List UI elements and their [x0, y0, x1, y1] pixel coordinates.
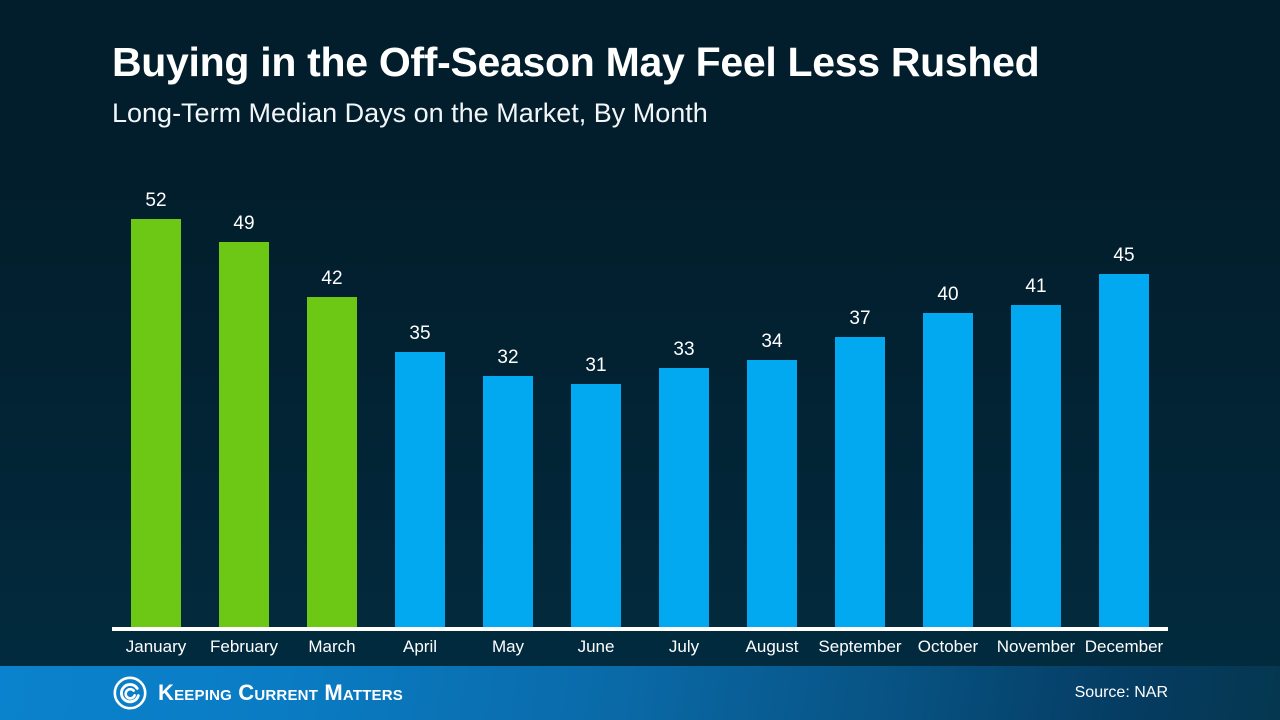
x-axis-line — [112, 627, 1168, 631]
x-axis-label: January — [112, 637, 200, 657]
spiral-circle-logo-icon — [113, 676, 147, 710]
x-axis-label: June — [552, 637, 640, 657]
x-axis-label: August — [728, 637, 816, 657]
x-axis-label: May — [464, 637, 552, 657]
bar-value-label: 33 — [673, 340, 694, 359]
bar — [923, 313, 973, 627]
bar-group: 35 — [376, 150, 464, 627]
bar — [747, 360, 797, 627]
chart-plot-area: 524942353231333437404145 — [112, 150, 1168, 631]
chart-subtitle: Long-Term Median Days on the Market, By … — [112, 98, 1192, 129]
bar-value-label: 32 — [497, 348, 518, 367]
bar-value-label: 40 — [937, 285, 958, 304]
bar-group: 45 — [1080, 150, 1168, 627]
bar — [1011, 305, 1061, 627]
brand: Keeping Current Matters — [113, 676, 403, 710]
brand-name: Keeping Current Matters — [158, 680, 403, 706]
x-axis-tick-labels: JanuaryFebruaryMarchAprilMayJuneJulyAugu… — [112, 637, 1168, 657]
bar — [483, 376, 533, 627]
bar-group: 52 — [112, 150, 200, 627]
page-title: Buying in the Off-Season May Feel Less R… — [112, 40, 1192, 86]
bar-group: 33 — [640, 150, 728, 627]
bar-group: 49 — [200, 150, 288, 627]
bar — [571, 384, 621, 627]
x-axis-label: April — [376, 637, 464, 657]
bar-value-label: 45 — [1113, 246, 1134, 265]
x-axis-label: October — [904, 637, 992, 657]
bar — [219, 242, 269, 627]
bar-group: 32 — [464, 150, 552, 627]
bar-value-label: 37 — [849, 309, 870, 328]
footer-bar: Keeping Current Matters Source: NAR — [0, 666, 1280, 720]
x-axis-label: February — [200, 637, 288, 657]
bar-value-label: 41 — [1025, 277, 1046, 296]
bar — [1099, 274, 1149, 627]
bar-value-label: 49 — [233, 214, 254, 233]
bar — [659, 368, 709, 627]
bar-value-label: 52 — [145, 191, 166, 210]
header: Buying in the Off-Season May Feel Less R… — [112, 40, 1192, 129]
bar-group: 42 — [288, 150, 376, 627]
x-axis-label: September — [816, 637, 904, 657]
bar-group: 40 — [904, 150, 992, 627]
bar-group: 34 — [728, 150, 816, 627]
bar-group: 31 — [552, 150, 640, 627]
bar-value-label: 35 — [409, 324, 430, 343]
slide-canvas: Buying in the Off-Season May Feel Less R… — [0, 0, 1280, 720]
source-note: Source: NAR — [1075, 684, 1168, 702]
bar-value-label: 42 — [321, 269, 342, 288]
x-axis-label: March — [288, 637, 376, 657]
bar-value-label: 31 — [585, 356, 606, 375]
bar-group: 37 — [816, 150, 904, 627]
x-axis-label: July — [640, 637, 728, 657]
x-axis-label: December — [1080, 637, 1168, 657]
x-axis-label: November — [992, 637, 1080, 657]
bar-group: 41 — [992, 150, 1080, 627]
bar — [307, 297, 357, 627]
bar-series: 524942353231333437404145 — [112, 150, 1168, 627]
bar — [835, 337, 885, 627]
bar — [395, 352, 445, 627]
bar-value-label: 34 — [761, 332, 782, 351]
bar — [131, 219, 181, 627]
